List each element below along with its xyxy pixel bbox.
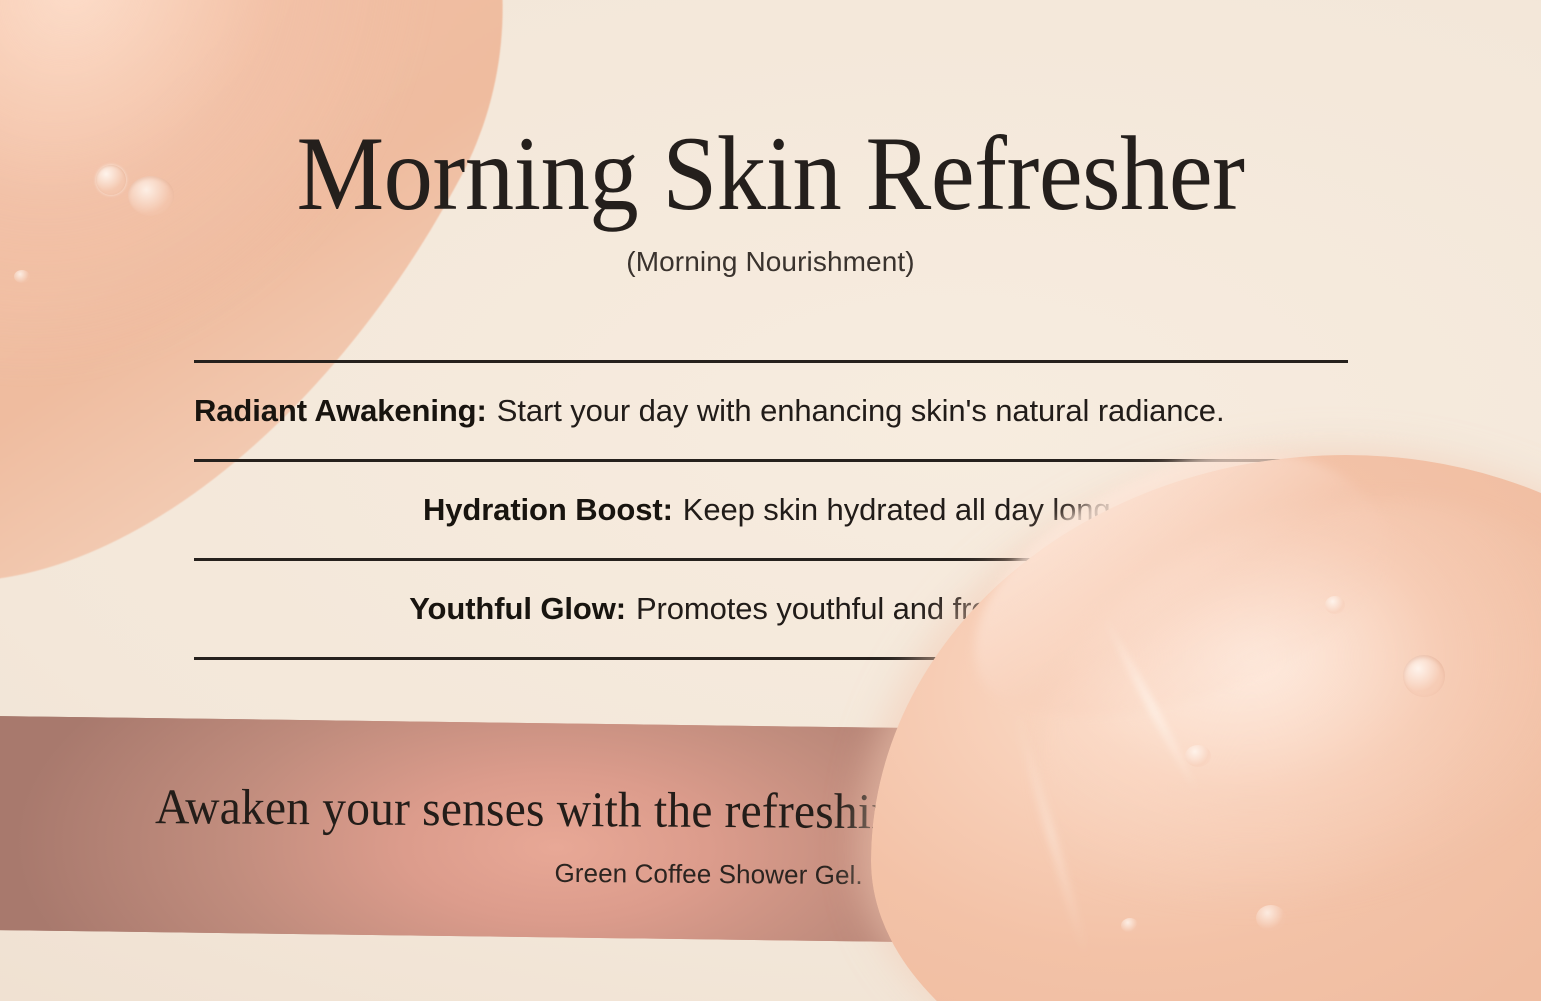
feature-text: Start your day with enhancing skin's nat…: [497, 393, 1225, 429]
feature-row: Hydration Boost: Keep skin hydrated all …: [194, 462, 1348, 558]
feature-row: Radiant Awakening: Start your day with e…: [194, 363, 1348, 459]
page-subtitle: (Morning Nourishment): [0, 246, 1541, 278]
feature-text: Promotes youthful and fresh skin appeara…: [636, 591, 1264, 627]
bubble-icon: [1185, 745, 1211, 767]
bubble-icon: [1403, 655, 1445, 697]
feature-text: Keep skin hydrated all day long.: [683, 492, 1119, 528]
feature-list: Radiant Awakening: Start your day with e…: [194, 360, 1348, 660]
poster-header: Morning Skin Refresher (Morning Nourishm…: [0, 118, 1541, 278]
bottom-banner: [0, 716, 1169, 945]
page-title: Morning Skin Refresher: [54, 118, 1487, 230]
feature-label: Hydration Boost:: [423, 492, 673, 528]
bubble-icon: [1256, 905, 1286, 931]
feature-label: Radiant Awakening:: [194, 393, 487, 429]
feature-row: Youthful Glow: Promotes youthful and fre…: [194, 561, 1348, 657]
poster-canvas: Morning Skin Refresher (Morning Nourishm…: [0, 0, 1541, 1001]
divider-rule: [194, 657, 1348, 660]
feature-label: Youthful Glow:: [409, 591, 626, 627]
